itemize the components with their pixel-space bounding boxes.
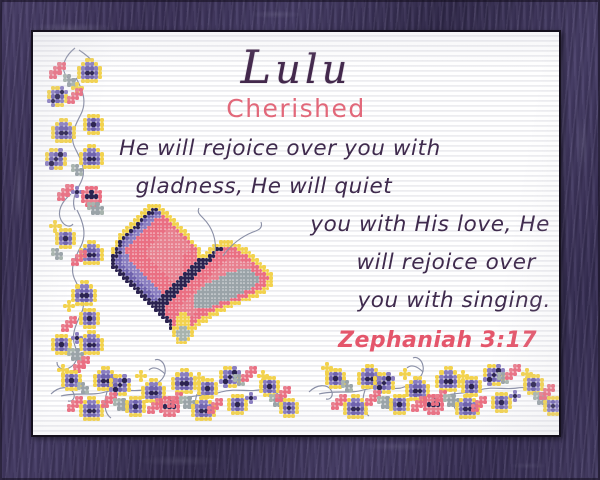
name-remainder: ulu (275, 47, 351, 93)
cross-stitch-flower-vine-bottom-left (47, 352, 297, 422)
cross-stitch-flower-vine-bottom-right (305, 350, 555, 422)
subtitle: Cherished (33, 94, 559, 123)
verse-line-1: He will rejoice over you with (33, 136, 527, 161)
verse-line-2: gladness, He will quiet (33, 174, 495, 199)
aida-fabric: Lulu Cherished He will rejoice over you … (33, 32, 559, 435)
verse-line-4: will rejoice over (103, 250, 536, 275)
name-title: Lulu (33, 40, 559, 94)
frame-bevel: Lulu Cherished He will rejoice over you … (33, 32, 559, 435)
verse-line-5: you with singing. (103, 288, 551, 313)
name-initial: L (241, 40, 276, 94)
scripture-reference: Zephaniah 3:17 (103, 328, 537, 353)
verse-line-3: you with His love, He (103, 212, 550, 237)
framed-artwork: Lulu Cherished He will rejoice over you … (0, 0, 600, 480)
